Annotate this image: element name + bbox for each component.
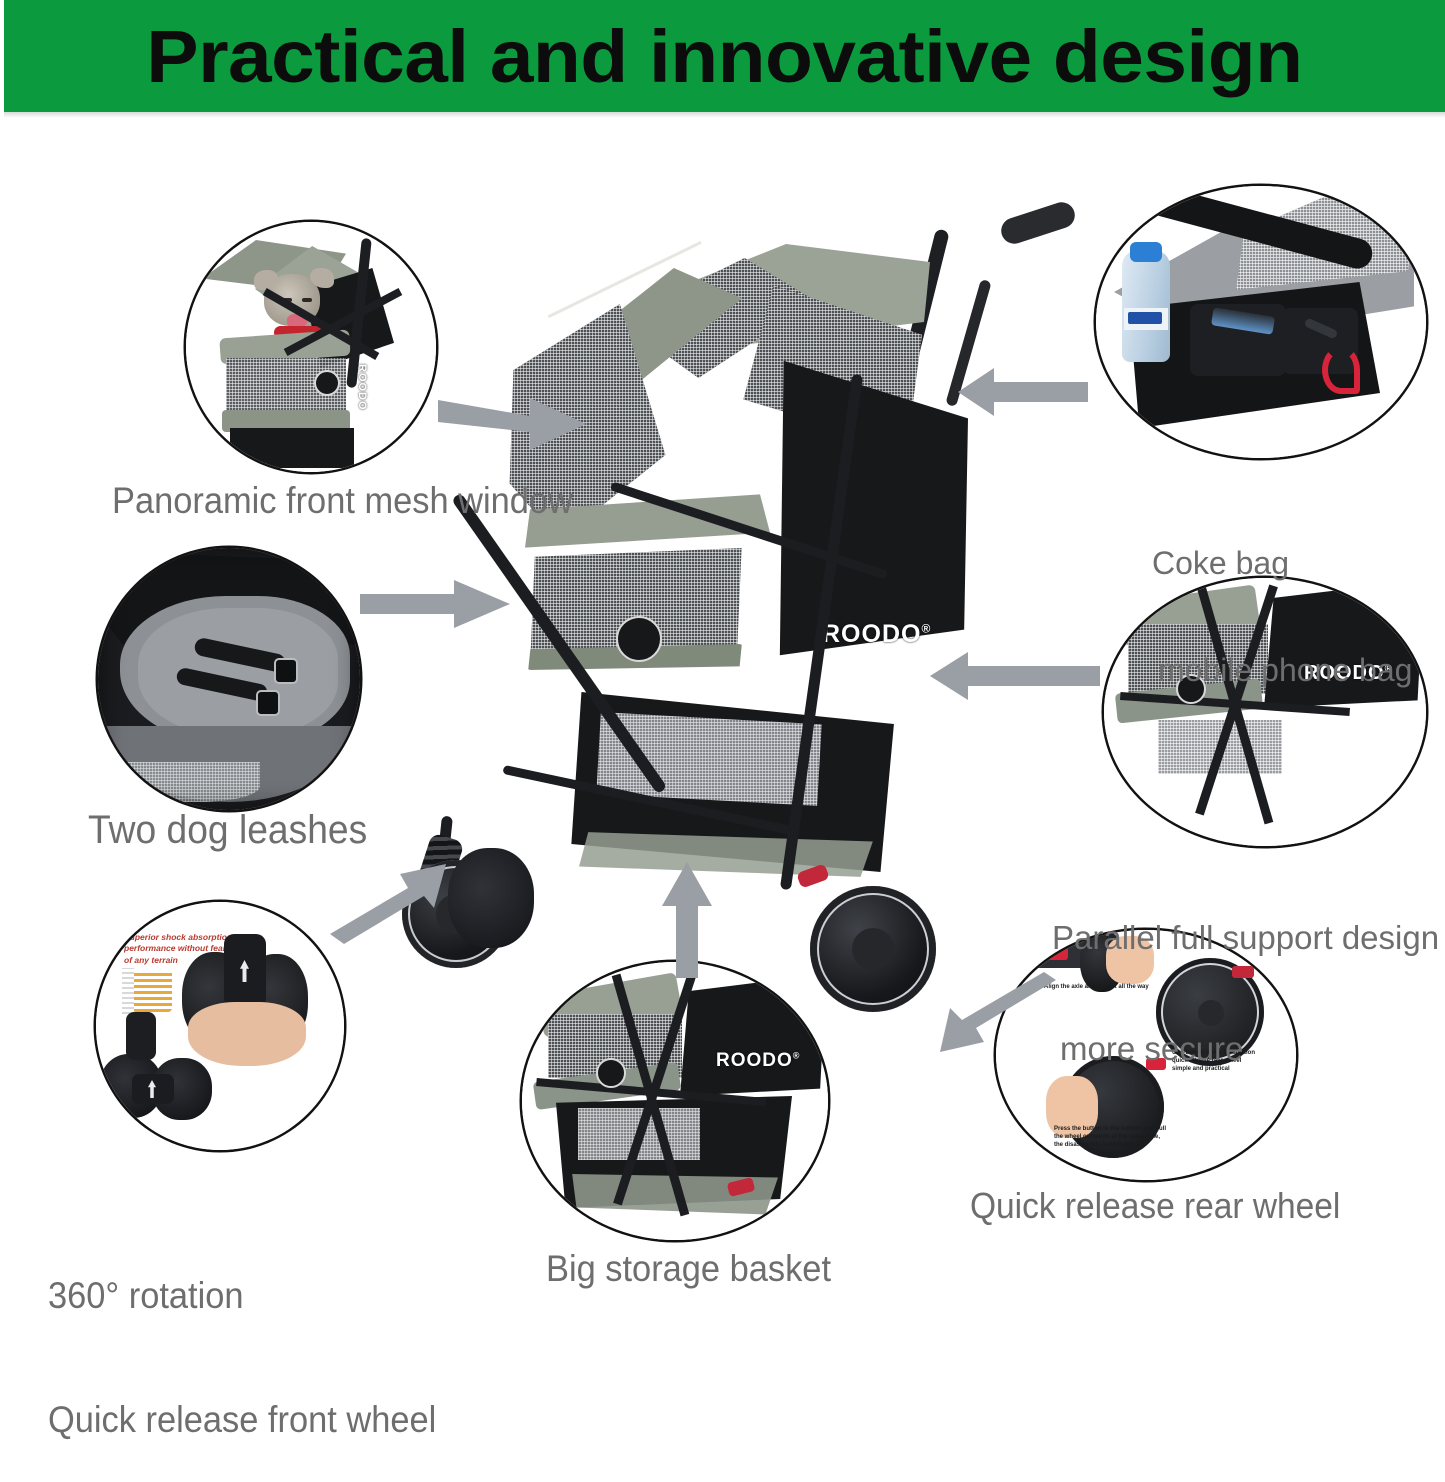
arrow-panoramic: [438, 382, 588, 454]
rear-wheel-note-bottom: Press the button to the bottom and pull …: [1054, 1126, 1166, 1149]
red-hook: [1322, 346, 1360, 394]
inset-storage-basket: ROODO®: [522, 962, 828, 1240]
arrow-front-wheel: [330, 862, 448, 948]
inset-two-dog-leashes: [98, 548, 360, 810]
brand-logo-main: ROODO®: [822, 620, 931, 649]
basket-interior-photo: [98, 548, 360, 810]
arrow-rear-wheel: [940, 972, 1056, 1054]
brand-badge-emblem: [616, 616, 662, 662]
water-bottle: [1122, 250, 1170, 362]
inset-panoramic-window: ROODO: [186, 222, 436, 472]
header-banner: Practical and innovative design: [4, 0, 1445, 112]
handle-grip: [998, 199, 1078, 247]
rear-wheel-hub: [852, 928, 894, 970]
caption-parallel-line1: Parallel full support design: [1052, 920, 1439, 957]
arrow-parallel-support: [930, 650, 1100, 702]
brand-logo-inset-basket: ROODO®: [716, 1050, 800, 1072]
front-wheel-photo: Superior shock absorption performance wi…: [96, 902, 344, 1150]
banner-shadow: [4, 112, 1445, 118]
caption-coke-bag: Coke bag mobile phone bag: [1152, 474, 1412, 725]
caption-front-wheel: 360° rotation Quick release front wheel: [48, 1192, 436, 1482]
front-wheel-twin: [448, 848, 534, 948]
caption-coke-bag-line2: mobile phone bag: [1158, 653, 1412, 689]
caption-parallel-support: Parallel full support design more secure: [1052, 846, 1439, 1105]
caption-parallel-line2: more secure: [1060, 1031, 1439, 1068]
caption-front-wheel-line1: 360° rotation: [48, 1275, 436, 1316]
arrow-coke-bag: [958, 366, 1088, 418]
brand-logo-mark: ®: [921, 622, 931, 636]
caption-front-wheel-line2: Quick release front wheel: [48, 1399, 436, 1440]
organizer-bag-photo: [1096, 186, 1426, 458]
storage-basket-photo: ROODO®: [522, 962, 828, 1240]
dog-in-stroller-photo: ROODO: [186, 222, 436, 472]
arrow-leashes: [360, 578, 512, 630]
spring-diagram-icon: [132, 970, 172, 1012]
caption-storage-basket: Big storage basket: [546, 1248, 831, 1289]
page-title: Practical and innovative design: [146, 14, 1302, 99]
caption-panoramic-window: Panoramic front mesh window: [112, 480, 573, 521]
caption-coke-bag-line1: Coke bag: [1152, 546, 1412, 582]
caption-two-dog-leashes: Two dog leashes: [88, 808, 367, 853]
inset-coke-bag: [1096, 186, 1426, 458]
brand-logo-text: ROODO: [822, 620, 921, 648]
inset-front-wheel: Superior shock absorption performance wi…: [96, 902, 344, 1150]
arrow-storage-basket: [660, 862, 714, 980]
caption-rear-wheel: Quick release rear wheel: [970, 1186, 1340, 1226]
